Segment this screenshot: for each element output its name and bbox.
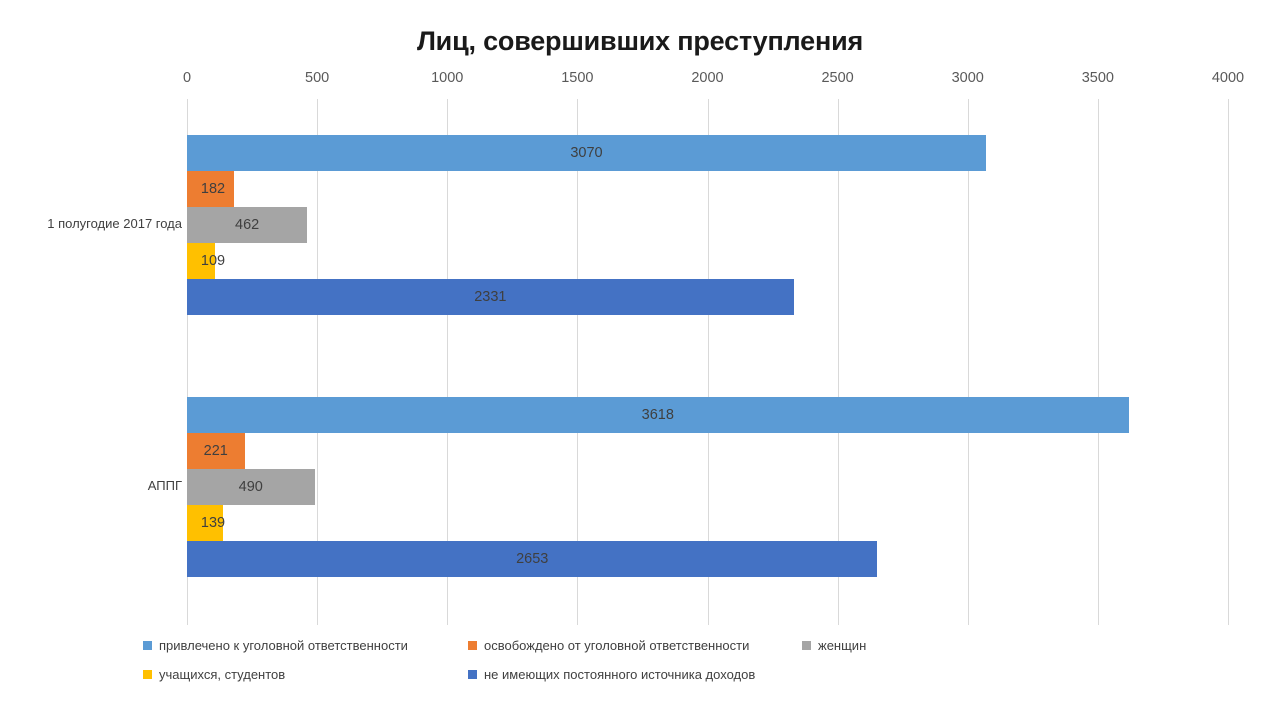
category-label: АППГ [148, 478, 182, 493]
legend-item[interactable]: не имеющих постоянного источника доходов [468, 667, 755, 682]
chart-container: Лиц, совершивших преступления 0500100015… [0, 0, 1280, 720]
legend-item[interactable]: освобождено от уголовной ответственности [468, 638, 749, 653]
x-tick-label: 2500 [821, 70, 853, 86]
legend-label: учащихся, студентов [159, 667, 285, 682]
category-label: 1 полугодие 2017 года [47, 216, 182, 231]
bar-value-label: 109 [187, 243, 239, 279]
legend-item[interactable]: женщин [802, 638, 866, 653]
gridline [1098, 99, 1099, 625]
bar-value-label: 490 [187, 469, 315, 505]
bar-value-label: 2653 [187, 541, 877, 577]
chart-title: Лиц, совершивших преступления [0, 26, 1280, 57]
legend-label: привлечено к уголовной ответственности [159, 638, 408, 653]
bar-value-label: 3070 [187, 135, 986, 171]
legend-label: освобождено от уголовной ответственности [484, 638, 749, 653]
legend-item[interactable]: привлечено к уголовной ответственности [143, 638, 408, 653]
x-tick-label: 1500 [561, 70, 593, 86]
bar-value-label: 462 [187, 207, 307, 243]
bar-value-label: 2331 [187, 279, 794, 315]
legend-label: женщин [818, 638, 866, 653]
gridline [968, 99, 969, 625]
x-tick-label: 3000 [952, 70, 984, 86]
x-tick-label: 4000 [1212, 70, 1244, 86]
bar-value-label: 3618 [187, 397, 1129, 433]
plot-area: 3070182462109233136182214901392653 [187, 99, 1228, 625]
legend-swatch-icon [802, 641, 811, 650]
x-tick-label: 500 [305, 70, 329, 86]
x-tick-label: 2000 [691, 70, 723, 86]
x-tick-label: 1000 [431, 70, 463, 86]
legend-swatch-icon [468, 670, 477, 679]
bar-value-label: 139 [187, 505, 239, 541]
x-tick-label: 0 [183, 70, 191, 86]
legend-item[interactable]: учащихся, студентов [143, 667, 285, 682]
gridline [1228, 99, 1229, 625]
legend-swatch-icon [143, 641, 152, 650]
legend-label: не имеющих постоянного источника доходов [484, 667, 755, 682]
legend-swatch-icon [143, 670, 152, 679]
bar-value-label: 221 [187, 433, 245, 469]
x-axis-tick-labels: 05001000150020002500300035004000 [0, 70, 1280, 90]
legend-swatch-icon [468, 641, 477, 650]
chart-legend: привлечено к уголовной ответственностиос… [0, 636, 1280, 696]
x-tick-label: 3500 [1082, 70, 1114, 86]
bar-value-label: 182 [187, 171, 239, 207]
